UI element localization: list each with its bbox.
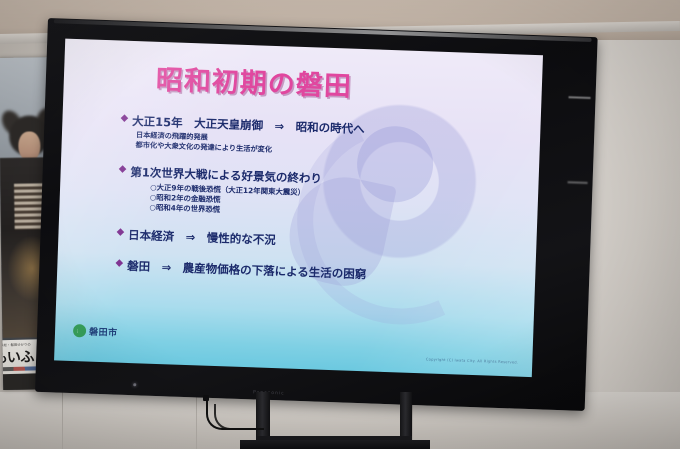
iwata-city-mark-icon — [73, 324, 86, 337]
diamond-bullet-icon: ◆ — [120, 113, 128, 126]
stand-base — [240, 440, 430, 449]
city-logo: 磐田市 — [73, 324, 118, 339]
poster-caption-large: もいふ — [0, 346, 34, 367]
power-led-icon — [133, 383, 136, 386]
cabinet-seam — [196, 392, 197, 449]
slide-title: 昭和初期の磐田 — [155, 58, 352, 104]
cable-clip — [203, 395, 209, 401]
diamond-bullet-icon: ◆ — [115, 257, 123, 270]
sublist-text: 昭和2年の金融恐慌 — [156, 193, 221, 204]
slide-body: ◆ 大正15年 大正天皇崩御 ⇒ 昭和の時代へ 日本経済の飛躍的発展 都市化や大… — [115, 113, 520, 288]
diamond-bullet-icon: ◆ — [119, 163, 127, 176]
sublist-text: 昭和4年の世界恐慌 — [156, 203, 221, 214]
presentation-slide: 昭和初期の磐田 ◆ 大正15年 大正天皇崩御 ⇒ 昭和の時代へ 日本経済の飛躍的… — [54, 39, 543, 377]
cabinet-seam — [62, 392, 63, 449]
room-photo: 浜松・磐田ゆかりの もいふ Panasonic 昭和初期の磐田 ◆ 大正15年 — [0, 0, 680, 449]
wall-mounted-display[interactable]: Panasonic 昭和初期の磐田 ◆ 大正15年 大正天皇崩御 ⇒ 昭和の時代… — [35, 18, 598, 411]
city-logo-label: 磐田市 — [89, 325, 118, 339]
signal-cable — [214, 404, 262, 430]
diamond-bullet-icon: ◆ — [116, 226, 124, 239]
copyright-notice: Copyright (C) Iwata City. All Rights Res… — [426, 357, 518, 364]
